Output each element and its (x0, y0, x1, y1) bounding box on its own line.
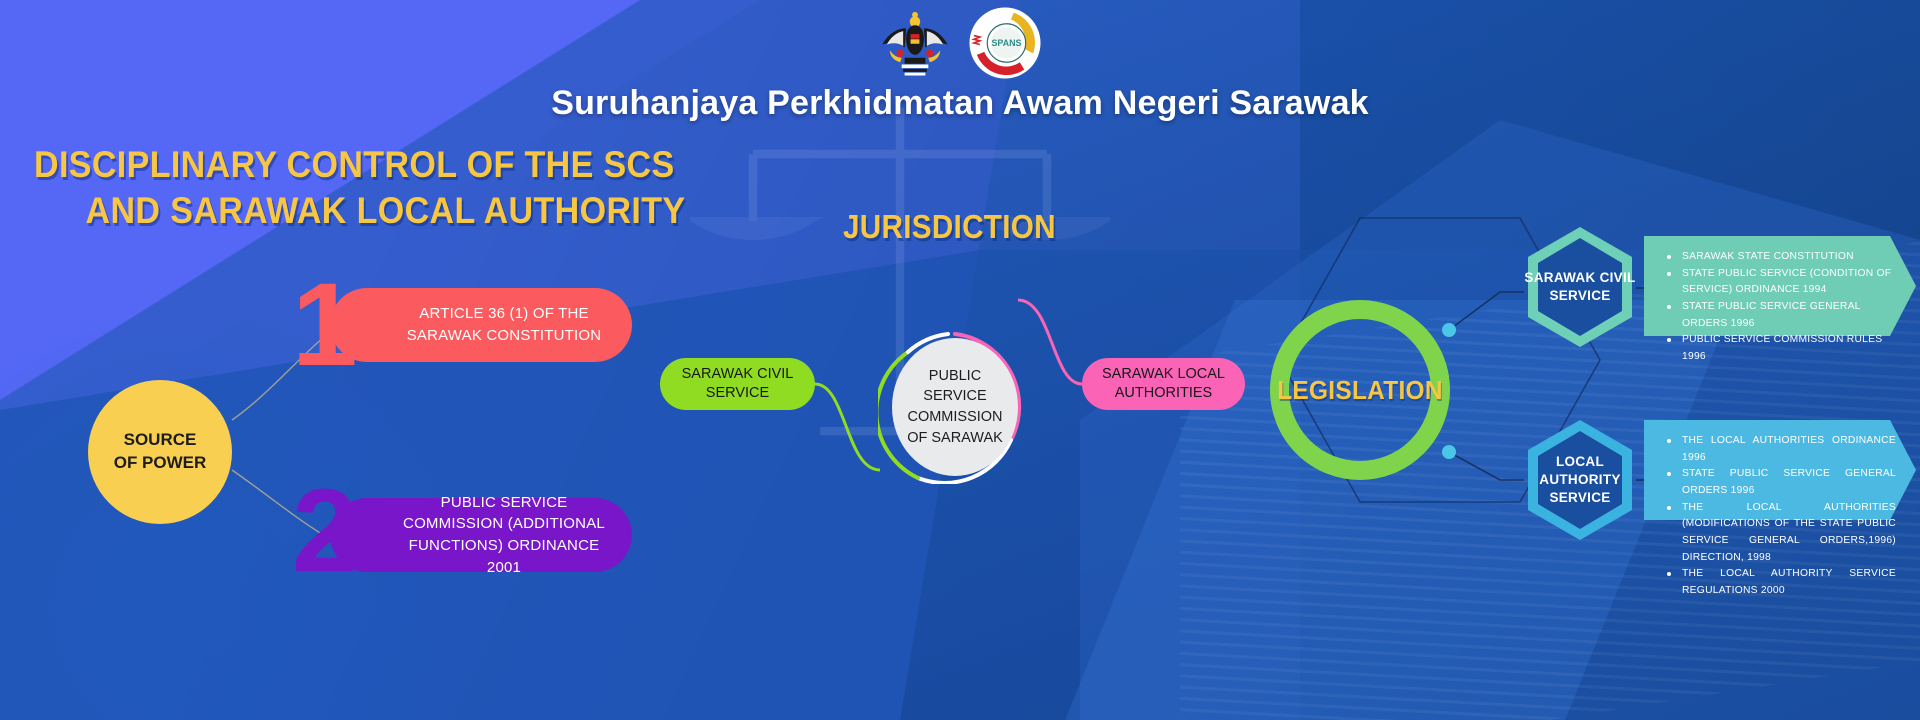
source-item-1-number: 1 (292, 266, 358, 384)
list-item: THE LOCAL AUTHORITY SERVICE REGULATIONS … (1666, 566, 1896, 599)
list-item: STATE PUBLIC SERVICE (CONDITION OF SERVI… (1666, 266, 1896, 299)
source-item-2-label: PUBLIC SERVICE COMMISSION (ADDITIONAL FU… (398, 492, 610, 579)
spans-logo: SPANS (968, 6, 1042, 80)
legislation-branch-2-panel: THE LOCAL AUTHORITIES ORDINANCE 1996 STA… (1644, 420, 1916, 613)
source-of-power-node[interactable]: SOURCE OF POWER (88, 380, 232, 524)
page-title-line2: AND SARAWAK LOCAL AUTHORITY (34, 188, 685, 234)
legislation-branch-1-list: SARAWAK STATE CONSTITUTION STATE PUBLIC … (1666, 249, 1896, 366)
source-of-power-line1: SOURCE (124, 429, 197, 452)
legislation-branch-2-label: LOCAL AUTHORITY SERVICE (1524, 418, 1636, 542)
jurisdiction-hub-label: PUBLIC SERVICE COMMISSION OF SARAWAK (892, 338, 1018, 476)
list-item: PUBLIC SERVICE COMMISSION RULES 1996 (1666, 332, 1896, 365)
legislation-branch-1-label: SARAWAK CIVIL SERVICE (1524, 225, 1636, 349)
source-item-2[interactable]: 2 PUBLIC SERVICE COMMISSION (ADDITIONAL … (330, 498, 632, 572)
header: SPANS Suruhanjaya Perkhidmatan Awam Nege… (0, 0, 1920, 130)
list-item: SARAWAK STATE CONSTITUTION (1666, 249, 1896, 266)
legislation-branch-1-hexagon[interactable]: SARAWAK CIVIL SERVICE (1524, 225, 1636, 349)
source-of-power-line2: OF POWER (114, 452, 207, 475)
jurisdiction-hub[interactable]: PUBLIC SERVICE COMMISSION OF SARAWAK (878, 330, 1032, 484)
legislation-node[interactable]: LEGISLATION (1270, 300, 1450, 480)
sarawak-coat-of-arms-logo (878, 6, 952, 80)
list-item: STATE PUBLIC SERVICE GENERAL ORDERS 1996 (1666, 299, 1896, 332)
jurisdiction-tag-local-authorities-label: SARAWAK LOCAL AUTHORITIES (1096, 365, 1231, 404)
list-item: STATE PUBLIC SERVICE GENERAL ORDERS 1996 (1666, 466, 1896, 499)
jurisdiction-heading: JURISDICTION (843, 208, 1056, 246)
page-title: DISCIPLINARY CONTROL OF THE SCS AND SARA… (34, 142, 685, 234)
page-title-line1: DISCIPLINARY CONTROL OF THE SCS (34, 142, 685, 188)
source-item-2-number: 2 (292, 472, 358, 590)
jurisdiction-tag-local-authorities[interactable]: SARAWAK LOCAL AUTHORITIES (1082, 358, 1245, 410)
jurisdiction-tag-civil-service[interactable]: SARAWAK CIVIL SERVICE (660, 358, 815, 410)
source-item-1[interactable]: 1 ARTICLE 36 (1) OF THE SARAWAK CONSTITU… (330, 288, 632, 362)
infographic-canvas: SPANS Suruhanjaya Perkhidmatan Awam Nege… (0, 0, 1920, 720)
list-item: THE LOCAL AUTHORITIES ORDINANCE 1996 (1666, 433, 1896, 466)
legislation-label: LEGISLATION (1275, 300, 1444, 480)
jurisdiction-tag-civil-service-label: SARAWAK CIVIL SERVICE (674, 365, 801, 404)
logo-group: SPANS (878, 4, 1042, 82)
org-title: Suruhanjaya Perkhidmatan Awam Negeri Sar… (551, 84, 1369, 123)
list-item: THE LOCAL AUTHORITIES (MODIFICATIONS OF … (1666, 500, 1896, 567)
spans-logo-text: SPANS (992, 38, 1022, 48)
legislation-branch-1-panel: SARAWAK STATE CONSTITUTION STATE PUBLIC … (1644, 236, 1916, 379)
source-item-1-label: ARTICLE 36 (1) OF THE SARAWAK CONSTITUTI… (398, 303, 610, 347)
legislation-branch-2-hexagon[interactable]: LOCAL AUTHORITY SERVICE (1524, 418, 1636, 542)
legislation-branch-2-list: THE LOCAL AUTHORITIES ORDINANCE 1996 STA… (1666, 433, 1896, 600)
